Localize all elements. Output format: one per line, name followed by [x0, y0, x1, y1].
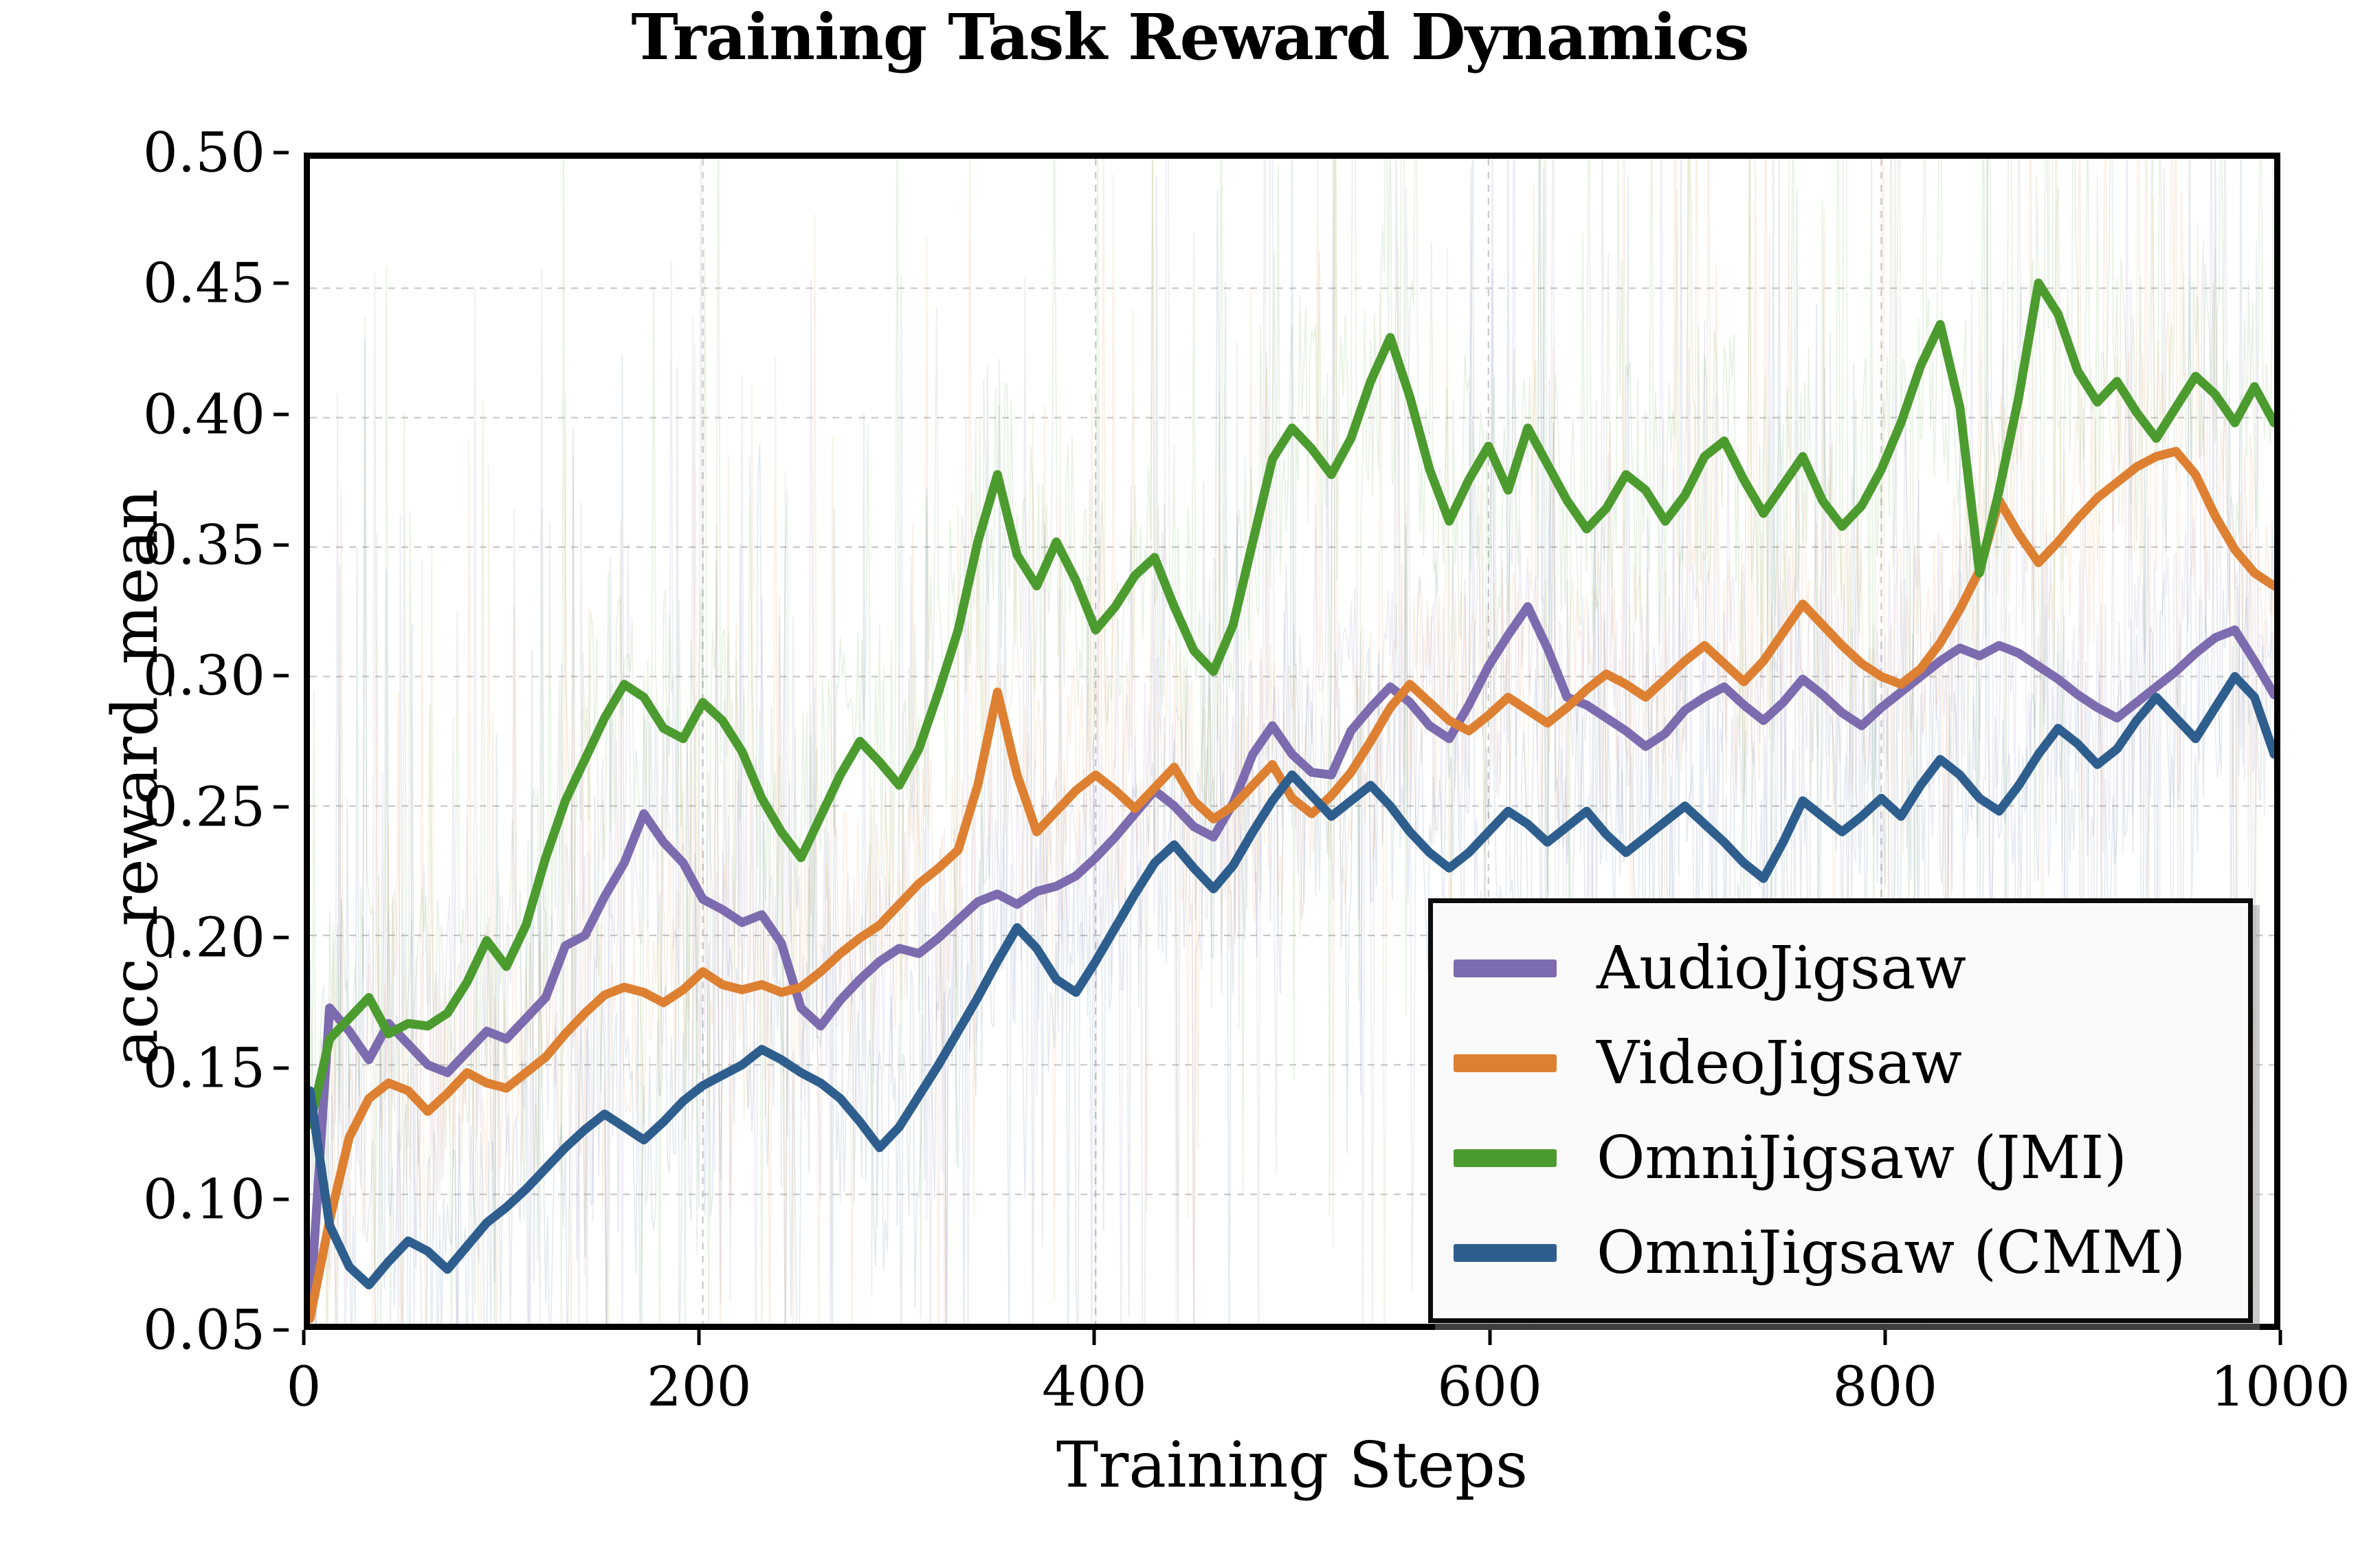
y-tick-mark — [274, 674, 289, 678]
y-tick-label: 0.35 — [143, 513, 265, 577]
x-tick-label: 200 — [647, 1355, 752, 1419]
y-tick-label: 0.45 — [143, 252, 265, 315]
chart-title: Training Task Reward Dynamics — [0, 4, 2380, 71]
y-tick-label: 0.25 — [143, 775, 265, 839]
legend-item[interactable]: AudioJigsaw — [1454, 921, 2225, 1016]
y-tick-label: 0.30 — [143, 644, 265, 708]
legend-item-label: OmniJigsaw (CMM) — [1597, 1223, 2186, 1283]
x-tick-mark — [698, 1330, 701, 1345]
y-tick-label: 0.50 — [143, 121, 265, 185]
chart-legend: AudioJigsawVideoJigsawOmniJigsaw (JMI)Om… — [1428, 898, 2253, 1323]
legend-item[interactable]: OmniJigsaw (JMI) — [1454, 1111, 2225, 1206]
y-tick-mark — [274, 1197, 289, 1201]
y-tick-mark — [274, 151, 289, 155]
x-axis-title: Training Steps — [304, 1428, 2280, 1502]
chart-figure: Training Task Reward Dynamics acc_reward… — [0, 0, 2380, 1554]
y-tick-mark — [274, 412, 289, 416]
y-tick-label: 0.20 — [143, 906, 265, 970]
legend-color-swatch — [1454, 959, 1557, 977]
y-axis-tick-group: 0.050.100.150.200.250.300.350.400.450.50 — [0, 153, 289, 1330]
x-tick-mark — [2279, 1330, 2282, 1345]
y-tick-label: 0.10 — [143, 1167, 265, 1231]
x-tick-mark — [1093, 1330, 1096, 1345]
x-tick-label: 1000 — [2210, 1355, 2350, 1419]
x-tick-label: 600 — [1437, 1355, 1542, 1419]
legend-item[interactable]: OmniJigsaw (CMM) — [1454, 1206, 2225, 1300]
y-tick-label: 0.05 — [143, 1298, 265, 1362]
legend-color-swatch — [1454, 1244, 1557, 1262]
legend-item-label: VideoJigsaw — [1597, 1034, 1962, 1093]
legend-item-label: AudioJigsaw — [1597, 939, 1966, 998]
x-tick-label: 800 — [1832, 1355, 1937, 1419]
x-tick-mark — [1883, 1330, 1887, 1345]
x-tick-label: 400 — [1042, 1355, 1147, 1419]
x-tick-label: 0 — [287, 1355, 322, 1419]
y-tick-mark — [274, 805, 289, 808]
x-tick-mark — [302, 1330, 306, 1345]
legend-item-label: OmniJigsaw (JMI) — [1597, 1129, 2127, 1188]
y-tick-mark — [274, 1067, 289, 1070]
legend-color-swatch — [1454, 1149, 1557, 1167]
y-tick-mark — [274, 1329, 289, 1332]
x-axis-tick-group: 02004006008001000 — [304, 1330, 2280, 1419]
legend-color-swatch — [1454, 1054, 1557, 1072]
x-tick-mark — [1488, 1330, 1491, 1345]
legend-item[interactable]: VideoJigsaw — [1454, 1016, 2225, 1111]
y-tick-mark — [274, 544, 289, 547]
y-tick-label: 0.40 — [143, 382, 265, 446]
y-tick-mark — [274, 282, 289, 285]
y-tick-label: 0.15 — [143, 1036, 265, 1100]
y-tick-mark — [274, 936, 289, 940]
